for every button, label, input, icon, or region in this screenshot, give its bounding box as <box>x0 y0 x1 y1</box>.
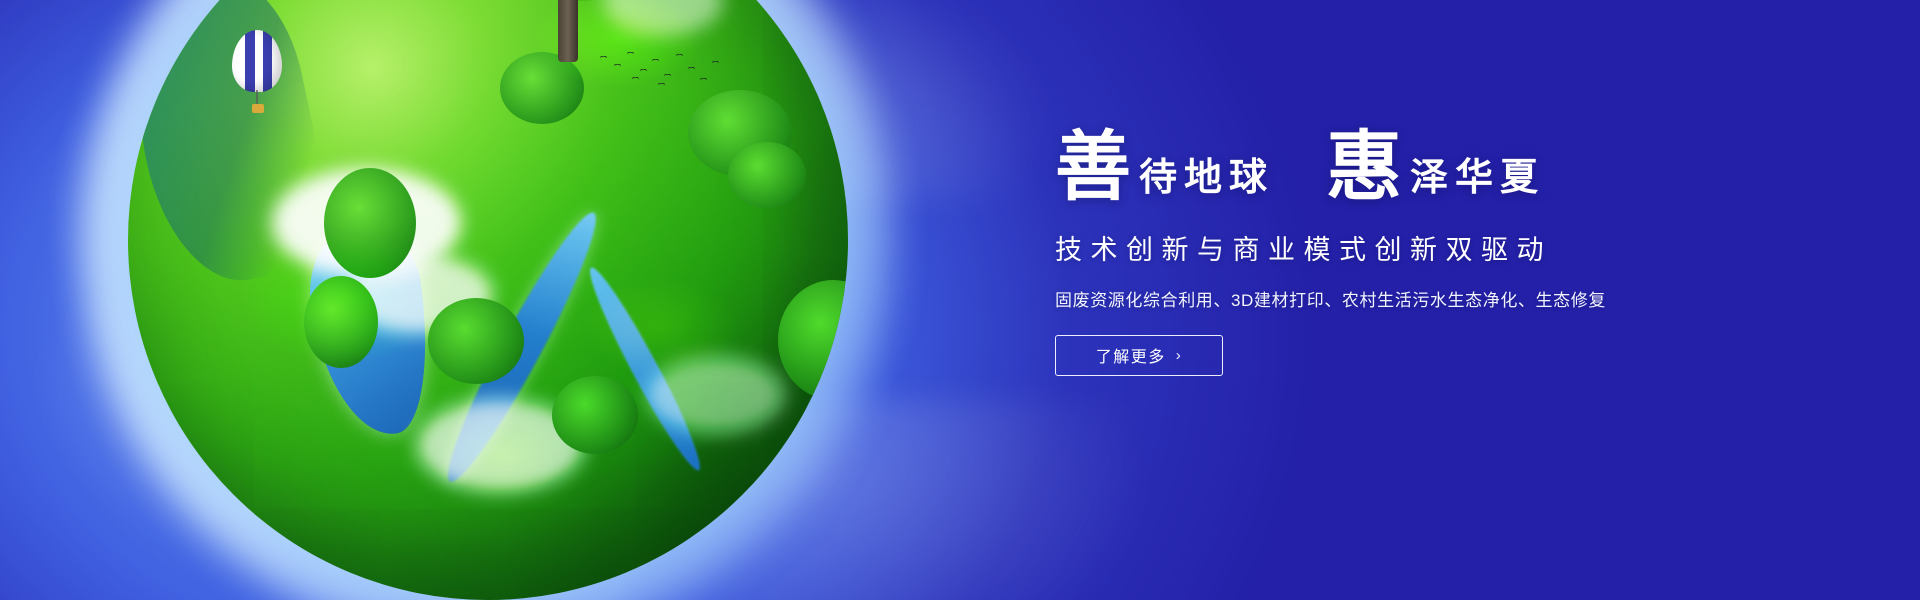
subtitle: 技术创新与商业模式创新双驱动 <box>1055 228 1755 267</box>
shrub <box>500 52 584 124</box>
bird-icon <box>652 59 659 63</box>
bird-icon <box>600 56 607 60</box>
lake-shape <box>301 219 441 443</box>
globe-cloud <box>344 254 494 334</box>
shrub <box>428 298 524 384</box>
bird-icon <box>664 74 671 78</box>
bird-icon <box>688 67 695 71</box>
shrub <box>728 142 806 208</box>
learn-more-label: 了解更多 <box>1096 343 1166 367</box>
bird-icon <box>712 61 719 65</box>
hero-copy: 善 待地球 惠 泽华夏 技术创新与商业模式创新双驱动 固废资源化综合利用、3D建… <box>1055 132 1755 376</box>
river-shape <box>432 206 613 487</box>
globe-cloud <box>646 355 786 435</box>
balloon-envelope <box>232 30 282 92</box>
bird-icon <box>658 83 665 87</box>
balloon-basket <box>252 104 264 113</box>
bird-icon <box>627 52 634 56</box>
bird-flock-icon <box>596 50 726 96</box>
shrub <box>688 90 792 176</box>
chevron-right-icon: › <box>1176 347 1183 364</box>
bird-icon <box>676 54 683 58</box>
shrub <box>304 276 378 368</box>
globe-cloud <box>272 168 462 278</box>
hot-air-balloon-icon <box>232 30 282 116</box>
shrub <box>324 168 416 278</box>
bird-icon <box>632 77 639 81</box>
shrub <box>552 376 638 454</box>
learn-more-button[interactable]: 了解更多 › <box>1055 335 1223 376</box>
shrub <box>778 280 848 400</box>
headline-phrase-1: 待地球 <box>1131 158 1274 202</box>
headline-phrase-2: 泽华夏 <box>1402 158 1545 202</box>
bird-icon <box>614 64 621 68</box>
description: 固废资源化综合利用、3D建材打印、农村生活污水生态净化、生态修复 <box>1055 286 1755 311</box>
bird-icon <box>640 69 647 73</box>
page-title: 善 待地球 惠 泽华夏 <box>1055 132 1755 202</box>
headline-char-1: 善 <box>1055 132 1131 202</box>
hero-banner: 善 待地球 惠 泽华夏 技术创新与商业模式创新双驱动 固废资源化综合利用、3D建… <box>0 0 1920 600</box>
headline-char-2: 惠 <box>1326 132 1402 202</box>
river-shape-secondary <box>580 262 711 477</box>
tree-trunk <box>558 0 578 62</box>
globe-cloud <box>416 398 586 493</box>
bird-icon <box>700 78 707 82</box>
